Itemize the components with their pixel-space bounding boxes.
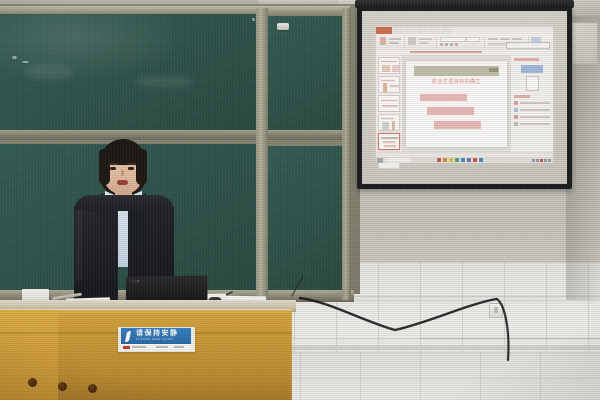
taskbar-app-icon[interactable] bbox=[467, 158, 471, 162]
ppt-message-text bbox=[410, 51, 482, 53]
sign-english-text: PLEASE KEEP QUIET bbox=[136, 339, 179, 342]
font-color-icon[interactable] bbox=[455, 43, 458, 46]
podium-left-face bbox=[0, 310, 58, 400]
taskbar-app-icon[interactable] bbox=[455, 158, 459, 162]
sign-subrow-badge bbox=[123, 346, 130, 349]
shoulders bbox=[74, 195, 174, 211]
slide-content-bar bbox=[427, 107, 474, 115]
slide-thumbnail[interactable] bbox=[378, 114, 400, 131]
sleeve-highlight bbox=[76, 209, 82, 281]
ribbon-label bbox=[419, 38, 432, 40]
speaker-box bbox=[277, 23, 289, 30]
ppt-ribbon-tab[interactable] bbox=[405, 27, 416, 34]
ppt-ribbon bbox=[376, 34, 553, 51]
task-pane-subheading bbox=[514, 95, 530, 98]
font-size-box[interactable] bbox=[466, 37, 480, 42]
item-icon bbox=[514, 108, 518, 112]
italic-icon[interactable] bbox=[445, 43, 448, 46]
task-pane-item[interactable] bbox=[514, 108, 550, 112]
taskbar-app-icon[interactable] bbox=[437, 158, 441, 162]
chalk-mark bbox=[12, 56, 17, 59]
task-pane-item[interactable] bbox=[514, 122, 550, 126]
taskbar-app-icon[interactable] bbox=[473, 158, 477, 162]
wall-panel bbox=[572, 22, 598, 64]
design-idea-thumbnail[interactable] bbox=[526, 76, 539, 91]
task-pane-item[interactable] bbox=[514, 115, 550, 119]
mouth bbox=[117, 180, 128, 185]
ppt-titlebar bbox=[376, 27, 553, 34]
ppt-ribbon-tab[interactable] bbox=[393, 27, 404, 34]
align-icon[interactable] bbox=[512, 38, 522, 40]
current-slide[interactable]: 职业生涯目标的确立 bbox=[406, 61, 508, 147]
paste-icon[interactable] bbox=[380, 37, 386, 45]
blackboard-divider-vertical bbox=[256, 8, 268, 300]
sign-logo-icon bbox=[124, 331, 133, 342]
sign-chinese-text: 请保持安静 bbox=[136, 330, 179, 337]
eyebrow-right bbox=[127, 163, 136, 165]
sign-text-block: 请保持安静 PLEASE KEEP QUIET bbox=[136, 330, 179, 341]
slide-banner bbox=[414, 66, 499, 75]
taskbar-app-icon[interactable] bbox=[461, 158, 465, 162]
sign-subrow-line bbox=[174, 346, 184, 348]
classroom-photograph: 职业生涯目标的确立 bbox=[0, 0, 600, 400]
ribbon-label bbox=[389, 42, 399, 44]
ppt-ribbon-tab[interactable] bbox=[417, 27, 428, 34]
slide-thumbnail[interactable] bbox=[378, 95, 400, 112]
task-pane-heading bbox=[514, 58, 539, 61]
ribbon-label bbox=[389, 38, 401, 40]
blackboard-panel-lower-right bbox=[266, 146, 348, 292]
item-icon bbox=[514, 101, 518, 105]
sign-subrow bbox=[121, 344, 191, 350]
blackboard-rail-top bbox=[0, 6, 350, 14]
windows-taskbar[interactable] bbox=[376, 157, 553, 163]
designer-task-pane[interactable] bbox=[510, 55, 553, 153]
item-icon bbox=[514, 122, 518, 126]
tray-icon[interactable] bbox=[540, 159, 543, 162]
item-label bbox=[520, 116, 550, 118]
podium-hole bbox=[58, 382, 67, 391]
ribbon-label bbox=[419, 42, 428, 44]
hair-right-side bbox=[136, 149, 147, 185]
ribbon-group-clipboard[interactable] bbox=[378, 36, 405, 48]
numbering-icon[interactable] bbox=[500, 38, 510, 40]
laptop-logo-dot bbox=[137, 280, 139, 282]
tray-icon[interactable] bbox=[548, 159, 551, 162]
ppt-file-tab[interactable] bbox=[376, 27, 392, 34]
chalk-smudge bbox=[24, 64, 74, 80]
ppt-ribbon-tab[interactable] bbox=[441, 27, 452, 34]
eyebrow-left bbox=[109, 163, 118, 165]
taskbar-app-icon[interactable] bbox=[479, 158, 483, 162]
sign-subrow-line bbox=[132, 346, 146, 348]
start-button-icon[interactable] bbox=[377, 158, 383, 163]
taskbar-search-box[interactable] bbox=[385, 158, 411, 162]
chalk-mark bbox=[22, 61, 29, 63]
item-label bbox=[520, 123, 550, 125]
font-name-box[interactable] bbox=[440, 37, 466, 42]
ppt-search-box[interactable] bbox=[506, 42, 550, 49]
slide-title: 职业生涯目标的确立 bbox=[421, 77, 492, 85]
taskbar-tray[interactable] bbox=[532, 159, 551, 162]
ribbon-group-font[interactable] bbox=[438, 36, 485, 48]
tray-icon[interactable] bbox=[532, 159, 535, 162]
slide-content-bar bbox=[420, 94, 467, 102]
sign-subrow-line bbox=[156, 346, 168, 348]
slide-content-bar bbox=[434, 121, 481, 129]
hair-left-side bbox=[99, 149, 110, 185]
slide-editing-area[interactable]: 职业生涯目标的确立 bbox=[403, 55, 510, 153]
ribbon-group-slides[interactable] bbox=[406, 36, 437, 48]
task-pane-item[interactable] bbox=[514, 101, 550, 105]
taskbar-app-icons[interactable] bbox=[437, 158, 483, 162]
blackboard-rail-middle bbox=[0, 130, 348, 140]
taskbar-app-icon[interactable] bbox=[443, 158, 447, 162]
wall-power-outlet bbox=[489, 303, 503, 318]
chalk-mark bbox=[252, 18, 255, 21]
projected-powerpoint-window: 职业生涯目标的确立 bbox=[376, 27, 553, 163]
podium-hole bbox=[88, 384, 97, 393]
bullets-icon[interactable] bbox=[488, 38, 498, 40]
slide-thumbnail[interactable] bbox=[378, 76, 400, 93]
task-pane-primary-button[interactable] bbox=[521, 65, 543, 73]
please-keep-quiet-sign: 请保持安静 PLEASE KEEP QUIET bbox=[121, 328, 191, 344]
slide-banner-tag bbox=[489, 68, 498, 72]
underline-icon[interactable] bbox=[450, 43, 453, 46]
blackboard-divider-vertical bbox=[342, 8, 351, 300]
eye-right bbox=[128, 167, 134, 170]
blackboard-panel-upper-right bbox=[266, 16, 348, 136]
wall-seam bbox=[420, 338, 600, 339]
taskbar-app-icon[interactable] bbox=[449, 158, 453, 162]
podium-hole bbox=[28, 378, 37, 387]
nose bbox=[121, 170, 124, 176]
tray-icon[interactable] bbox=[536, 159, 539, 162]
tray-icon[interactable] bbox=[544, 159, 547, 162]
item-icon bbox=[514, 115, 518, 119]
chalk-smudge bbox=[134, 76, 194, 88]
bold-icon[interactable] bbox=[440, 43, 443, 46]
slide-thumbnail[interactable] bbox=[378, 57, 400, 74]
slide-thumbnail-pane[interactable] bbox=[376, 55, 403, 153]
blackboard bbox=[0, 4, 360, 294]
item-label bbox=[520, 102, 550, 104]
item-label bbox=[520, 109, 550, 111]
eye-left bbox=[110, 167, 116, 170]
slide-thumbnail-selected[interactable] bbox=[378, 133, 400, 150]
new-slide-icon[interactable] bbox=[408, 37, 416, 45]
ppt-ribbon-tab[interactable] bbox=[429, 27, 440, 34]
